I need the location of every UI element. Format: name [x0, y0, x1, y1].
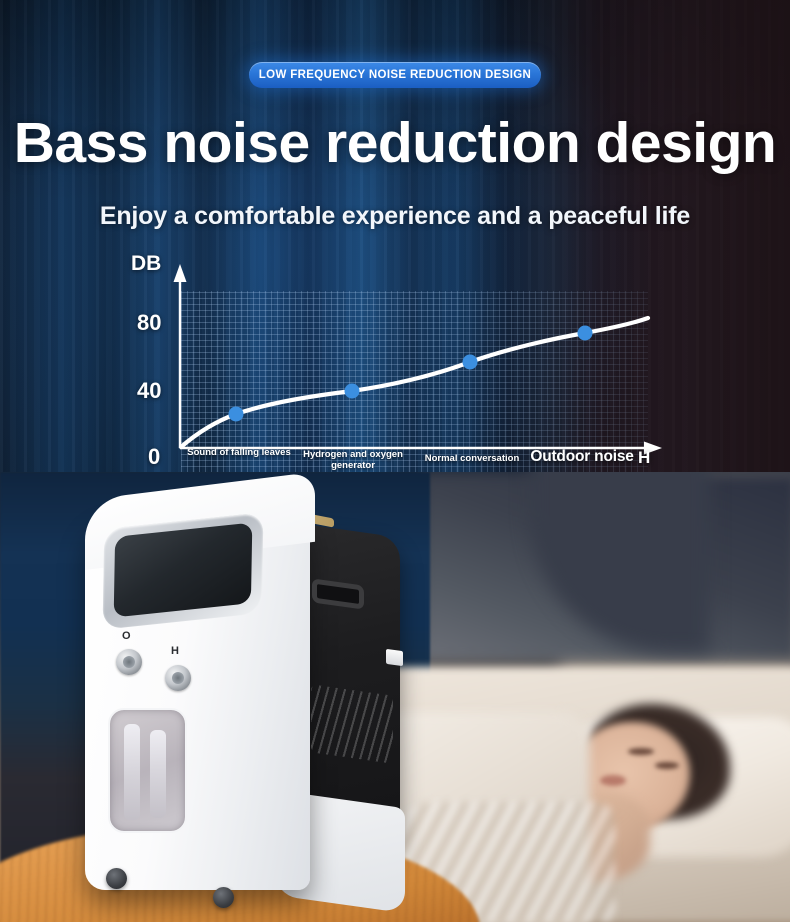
feature-badge-label: LOW FREQUENCY NOISE REDUCTION DESIGN: [259, 69, 531, 81]
device-caster-right: [213, 887, 234, 908]
y-axis-arrow: [174, 264, 187, 282]
device-caster-left: [106, 868, 127, 889]
hydrogen-port-label: H: [171, 645, 179, 657]
x-label-normal-conversation: Normal conversation: [415, 454, 529, 465]
data-point-3[interactable]: [463, 355, 478, 370]
x-label-outdoor-noise: Outdoor noise: [530, 448, 634, 466]
water-tank-tube-right: [150, 730, 166, 818]
feature-badge[interactable]: LOW FREQUENCY NOISE REDUCTION DESIGN: [249, 62, 541, 88]
hydrogen-oxygen-generator-device[interactable]: O H: [70, 490, 430, 922]
device-touchscreen[interactable]: [114, 522, 253, 617]
hydrogen-outlet-port[interactable]: [165, 665, 191, 691]
noise-level-chart: DB 80 40 0 Sound of falling leaves Hydro…: [0, 250, 790, 480]
x-label-falling-leaves: Sound of falling leaves: [185, 448, 293, 459]
x-label-hydrogen-oxygen-generator: Hydrogen and oxygen generator: [298, 450, 408, 472]
sleeping-person-eye-left: [628, 748, 654, 755]
water-tank-tube-left: [124, 724, 140, 820]
y-axis-title: DB: [131, 252, 161, 276]
page-subtitle: Enjoy a comfortable experience and a pea…: [0, 202, 790, 231]
promo-banner: LOW FREQUENCY NOISE REDUCTION DESIGN Bas…: [0, 0, 790, 922]
data-point-1[interactable]: [229, 407, 244, 422]
water-tank-window: [108, 708, 187, 833]
oxygen-port-label: O: [122, 630, 131, 642]
oxygen-port-inner: [123, 656, 135, 668]
y-tick-40: 40: [137, 378, 161, 404]
page-title: Bass noise reduction design: [0, 114, 790, 174]
sleeping-person-lips: [600, 775, 626, 786]
chart-line: [181, 318, 648, 447]
sleeping-person-eye-right: [655, 762, 679, 769]
chart-plot: [0, 250, 790, 480]
data-point-2[interactable]: [345, 384, 360, 399]
x-axis-title: H: [638, 448, 650, 468]
oxygen-outlet-port[interactable]: [116, 649, 142, 675]
device-label-sticker: [386, 649, 403, 666]
data-point-4[interactable]: [578, 326, 593, 341]
hydrogen-port-inner: [172, 672, 184, 684]
y-tick-0: 0: [148, 444, 160, 470]
y-tick-80: 80: [137, 310, 161, 336]
device-vents: [311, 684, 393, 764]
